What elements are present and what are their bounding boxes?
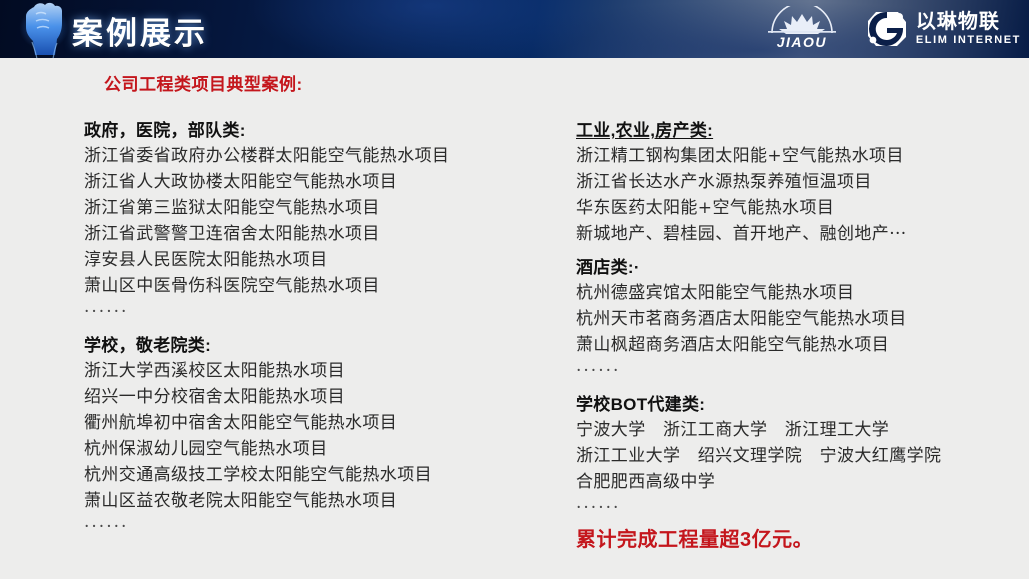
section-heading: 工业,农业,房产类: (576, 118, 1016, 143)
header-logos: JIAOU 以琳物联 ELIM INTERNET (756, 0, 1021, 58)
footnote-total-volume: 累计完成工程量超3亿元。 (576, 523, 813, 552)
list-item: 浙江大学西溪校区太阳能热水项目 (84, 358, 554, 384)
list-item: 宁波大学 浙江工商大学 浙江理工大学 (576, 417, 1016, 443)
list-item: 浙江精工钢构集团太阳能+空气能热水项目 (576, 143, 1016, 169)
section-hotel: 酒店类:· 杭州德盛宾馆太阳能空气能热水项目 杭州天市茗商务酒店太阳能空气能热水… (576, 255, 1016, 384)
list-ellipsis: ······ (84, 514, 554, 540)
jiaou-logo: JIAOU (756, 6, 848, 52)
slide-header: 案例展示 JIAOU 以琳物联 ELIM (0, 0, 1029, 58)
list-ellipsis: ······ (576, 358, 1016, 384)
list-item: 合肥肥西高级中学 (576, 469, 1016, 495)
page-title: 案例展示 (72, 8, 208, 53)
list-item: 杭州保淑幼儿园空气能热水项目 (84, 436, 554, 462)
list-item: 衢州航埠初中宿舍太阳能空气能热水项目 (84, 410, 554, 436)
list-item: 萧山区益农敬老院太阳能空气能热水项目 (84, 488, 554, 514)
section-heading: 政府，医院，部队类: (84, 118, 554, 143)
list-ellipsis: ······ (84, 299, 554, 325)
list-item: 杭州德盛宾馆太阳能空气能热水项目 (576, 280, 1016, 306)
list-item: 浙江省人大政协楼太阳能空气能热水项目 (84, 169, 554, 195)
list-item: 绍兴一中分校宿舍太阳能热水项目 (84, 384, 554, 410)
elim-logo-cn: 以琳物联 (916, 12, 1021, 32)
elim-logo: 以琳物联 ELIM INTERNET (866, 9, 1021, 49)
section-spacer (576, 384, 1016, 392)
left-column: 政府，医院，部队类: 浙江省委省政府办公楼群太阳能空气能热水项目 浙江省人大政协… (84, 118, 554, 540)
section-heading: 学校BOT代建类: (576, 392, 1016, 417)
right-column: 工业,农业,房产类: 浙江精工钢构集团太阳能+空气能热水项目 浙江省长达水产水源… (576, 118, 1016, 521)
elim-logo-words: 以琳物联 ELIM INTERNET (916, 12, 1021, 46)
list-item: 萧山枫超商务酒店太阳能空气能热水项目 (576, 332, 1016, 358)
slide-root: 案例展示 JIAOU 以琳物联 ELIM (0, 0, 1029, 579)
list-item: 杭州交通高级技工学校太阳能空气能热水项目 (84, 462, 554, 488)
fist-icon (12, 0, 76, 58)
section-government: 政府，医院，部队类: 浙江省委省政府办公楼群太阳能空气能热水项目 浙江省人大政协… (84, 118, 554, 325)
section-school-bot: 学校BOT代建类: 宁波大学 浙江工商大学 浙江理工大学 浙江工业大学 绍兴文理… (576, 392, 1016, 521)
list-item: 浙江省武警警卫连宿舍太阳能热水项目 (84, 221, 554, 247)
list-item: 杭州天市茗商务酒店太阳能空气能热水项目 (576, 306, 1016, 332)
section-spacer (84, 325, 554, 333)
list-item: 萧山区中医骨伤科医院空气能热水项目 (84, 273, 554, 299)
jiaou-logo-text: JIAOU (756, 34, 848, 50)
list-item: 新城地产、碧桂园、首开地产、融创地产··· (576, 221, 1016, 247)
list-item: 浙江工业大学 绍兴文理学院 宁波大红鹰学院 (576, 443, 1016, 469)
elim-logo-en: ELIM INTERNET (916, 35, 1021, 46)
list-item: 淳安县人民医院太阳能热水项目 (84, 247, 554, 273)
list-item: 华东医药太阳能+空气能热水项目 (576, 195, 1016, 221)
g-hexagon-mark (866, 9, 908, 49)
section-heading: 学校，敬老院类: (84, 333, 554, 358)
section-spacer (576, 247, 1016, 255)
section-industry-agriculture-realestate: 工业,农业,房产类: 浙江精工钢构集团太阳能+空气能热水项目 浙江省长达水产水源… (576, 118, 1016, 247)
list-item: 浙江省长达水产水源热泵养殖恒温项目 (576, 169, 1016, 195)
list-item: 浙江省第三监狱太阳能空气能热水项目 (84, 195, 554, 221)
subtitle: 公司工程类项目典型案例: (104, 70, 303, 95)
list-item: 浙江省委省政府办公楼群太阳能空气能热水项目 (84, 143, 554, 169)
section-school-eldercare: 学校，敬老院类: 浙江大学西溪校区太阳能热水项目 绍兴一中分校宿舍太阳能热水项目… (84, 333, 554, 540)
list-ellipsis: ······ (576, 495, 1016, 521)
section-heading: 酒店类:· (576, 255, 1016, 280)
